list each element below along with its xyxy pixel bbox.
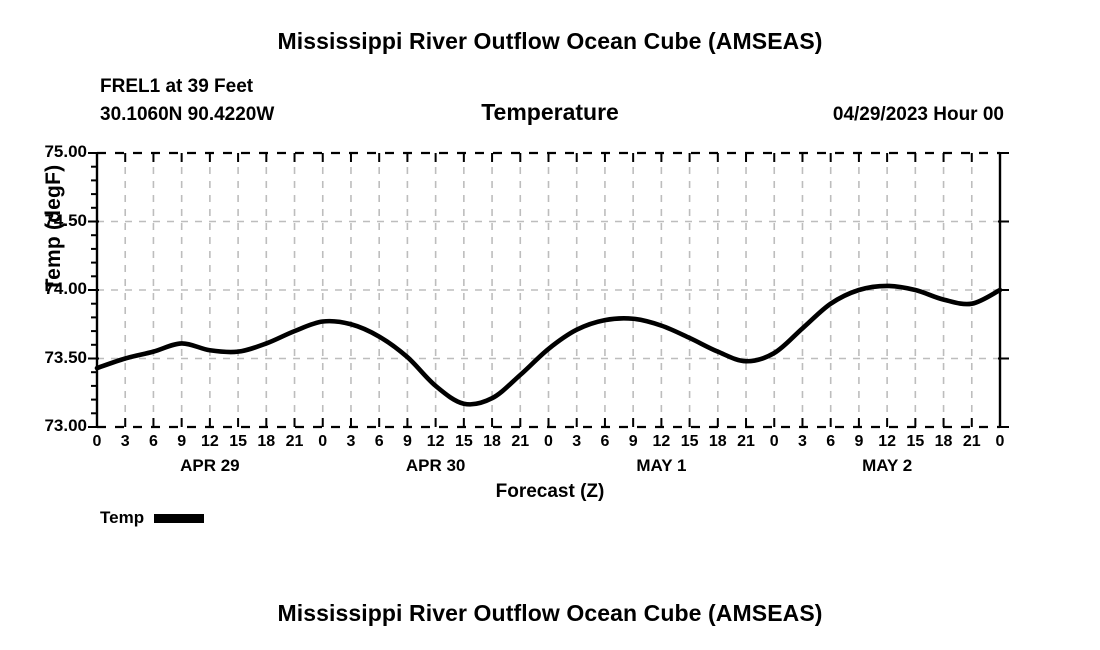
- x-tick-label: 6: [818, 433, 844, 451]
- y-tick-label: 73.50: [5, 348, 87, 368]
- x-tick-label: 15: [451, 433, 477, 451]
- x-axis-day-label: APR 30: [376, 456, 496, 476]
- y-tick-label: 74.50: [5, 211, 87, 231]
- x-tick-label: 21: [733, 433, 759, 451]
- chart-container: Temp (degF) 75.0074.5074.0073.5073.00 03…: [0, 0, 1100, 650]
- x-tick-label: 0: [761, 433, 787, 451]
- x-tick-label: 9: [394, 433, 420, 451]
- x-tick-label: 9: [169, 433, 195, 451]
- x-tick-label: 3: [338, 433, 364, 451]
- x-tick-label: 6: [140, 433, 166, 451]
- x-tick-label: 12: [197, 433, 223, 451]
- x-tick-label: 0: [987, 433, 1013, 451]
- legend-label-temp: Temp: [100, 508, 144, 528]
- x-axis-day-label: MAY 2: [827, 456, 947, 476]
- chart-legend: Temp: [100, 508, 204, 528]
- x-tick-label: 3: [112, 433, 138, 451]
- x-tick-label: 12: [648, 433, 674, 451]
- x-tick-label: 18: [479, 433, 505, 451]
- y-tick-label: 74.00: [5, 279, 87, 299]
- temp-series-line: [97, 286, 1000, 405]
- x-tick-label: 18: [931, 433, 957, 451]
- x-tick-label: 6: [592, 433, 618, 451]
- x-tick-label: 9: [620, 433, 646, 451]
- x-axis-title: Forecast (Z): [0, 481, 1100, 503]
- x-tick-label: 9: [846, 433, 872, 451]
- x-tick-label: 0: [536, 433, 562, 451]
- x-tick-label: 18: [705, 433, 731, 451]
- x-tick-label: 6: [366, 433, 392, 451]
- temperature-line-chart: [0, 0, 1100, 650]
- x-tick-label: 12: [874, 433, 900, 451]
- x-tick-label: 3: [564, 433, 590, 451]
- x-tick-label: 15: [902, 433, 928, 451]
- x-tick-label: 21: [507, 433, 533, 451]
- x-tick-label: 0: [310, 433, 336, 451]
- x-tick-label: 0: [84, 433, 110, 451]
- legend-swatch-temp: [154, 514, 204, 523]
- x-tick-label: 15: [677, 433, 703, 451]
- x-tick-label: 15: [225, 433, 251, 451]
- x-tick-label: 18: [253, 433, 279, 451]
- x-axis-day-label: MAY 1: [601, 456, 721, 476]
- y-tick-label: 73.00: [5, 416, 87, 436]
- x-tick-label: 21: [282, 433, 308, 451]
- x-axis-day-label: APR 29: [150, 456, 270, 476]
- x-tick-label: 3: [789, 433, 815, 451]
- x-tick-label: 21: [959, 433, 985, 451]
- page-title-bottom: Mississippi River Outflow Ocean Cube (AM…: [0, 600, 1100, 627]
- x-tick-label: 12: [423, 433, 449, 451]
- y-tick-label: 75.00: [5, 142, 87, 162]
